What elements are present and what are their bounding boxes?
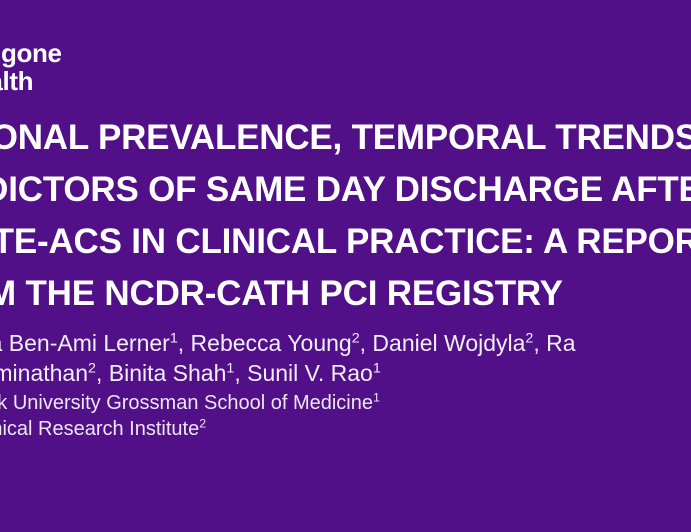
affiliation-nyu-text: York University Grossman School of Medic… [0,392,373,414]
author-affil-marker: 2 [88,360,96,376]
title-line-4: OM THE NCDR-CATH PCI REGISTRY [0,268,691,320]
affiliation-line-1: York University Grossman School of Medic… [0,390,691,416]
logo-health-text: Health [0,68,196,95]
author-list: nna Ben-Ami Lerner1, Rebecca Young2, Dan… [0,328,691,388]
affiliation-list: York University Grossman School of Medic… [0,390,691,442]
author-affil-marker: 1 [373,360,381,376]
author-name-lerner: nna Ben-Ami Lerner [0,330,170,356]
affiliation-marker: 1 [373,390,380,404]
author-name-shah: , Binita Shah [96,360,226,386]
author-name-young: , Rebecca Young [178,330,352,356]
author-affil-marker: 2 [352,330,360,346]
title-line-3: ISTE-ACS IN CLINICAL PRACTICE: A REPORT [0,216,691,268]
author-line-2: waminathan2, Binita Shah1, Sunil V. Rao1 [0,358,691,388]
affiliation-duke-text: Clinical Research Institute [0,418,199,440]
author-name-truncated: , Ra [533,330,575,356]
presentation-title-slide: NYU Langone Health TIONAL PREVALENCE, TE… [0,0,691,532]
author-name-swaminathan: waminathan [0,360,88,386]
author-affil-marker: 1 [170,330,178,346]
nyu-langone-health-logo: NYU Langone Health [0,40,196,94]
author-name-wojdyla: , Daniel Wojdyla [360,330,526,356]
affiliation-line-2: Clinical Research Institute2 [0,416,691,442]
logo-langone-text: Langone [0,40,196,67]
affiliation-marker: 2 [199,416,206,430]
slide-title: TIONAL PREVALENCE, TEMPORAL TRENDS, A ED… [0,112,691,320]
author-line-1: nna Ben-Ami Lerner1, Rebecca Young2, Dan… [0,328,691,358]
title-line-1: TIONAL PREVALENCE, TEMPORAL TRENDS, A [0,112,691,164]
title-line-2: EDICTORS OF SAME DAY DISCHARGE AFTER [0,164,691,216]
author-name-rao: , Sunil V. Rao [234,360,373,386]
